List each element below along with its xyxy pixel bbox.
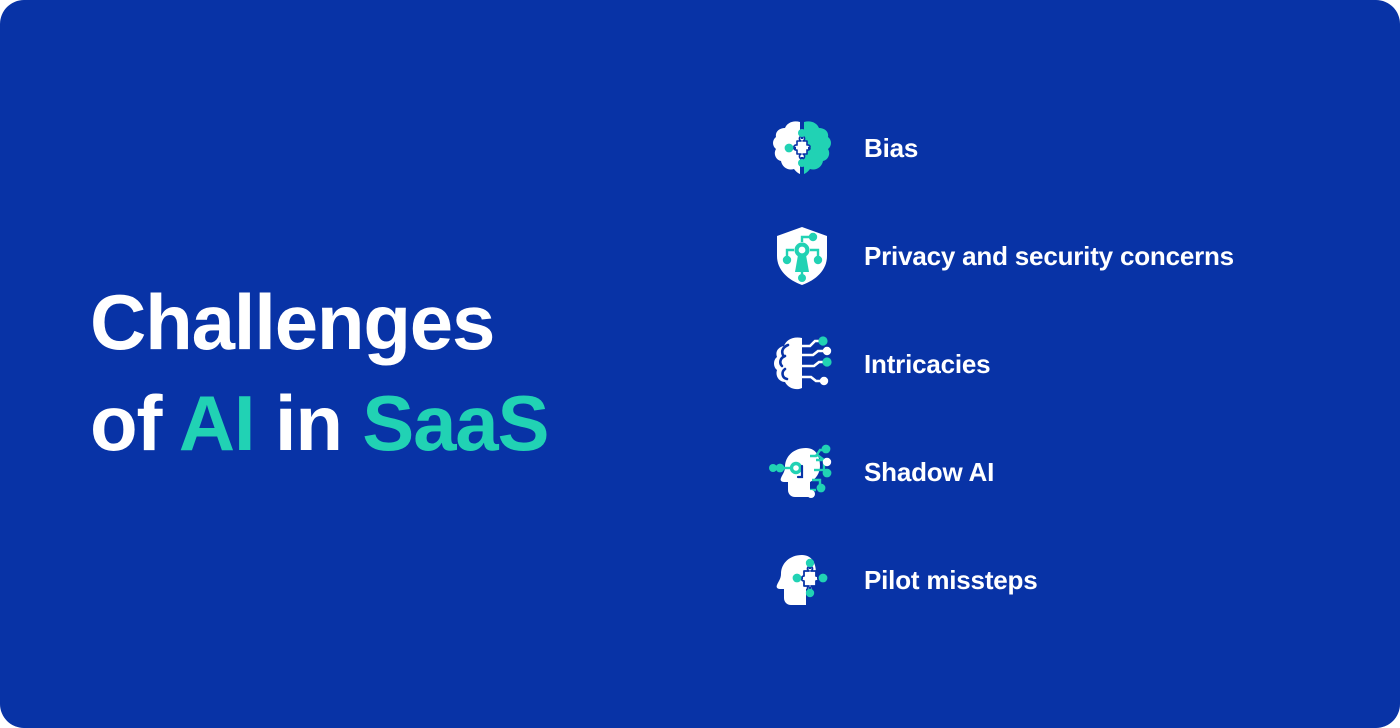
title-word-saas: SaaS <box>362 379 548 467</box>
page-title: Challenges of AI in SaaS <box>90 272 650 474</box>
title-word-ai: AI <box>179 379 255 467</box>
head-network-icon <box>758 428 846 516</box>
title-word-of: of <box>90 379 179 467</box>
list-item: Privacy and security concerns <box>758 212 1358 300</box>
split-brain-puzzle-icon <box>758 104 846 192</box>
challenges-list: Bias <box>758 104 1358 624</box>
list-item-label: Pilot missteps <box>864 565 1037 596</box>
shield-keyhole-circuit-icon <box>758 212 846 300</box>
title-word-in: in <box>254 379 362 467</box>
title-line-2: of AI in SaaS <box>90 373 650 474</box>
brain-circuit-icon <box>758 320 846 408</box>
title-line-1: Challenges <box>90 272 650 373</box>
list-item: Bias <box>758 104 1358 192</box>
list-item: Intricacies <box>758 320 1358 408</box>
list-item: Pilot missteps <box>758 536 1358 624</box>
list-item-label: Shadow AI <box>864 457 994 488</box>
infographic-card: Challenges of AI in SaaS <box>0 0 1400 728</box>
list-item-label: Bias <box>864 133 918 164</box>
list-item: Shadow AI <box>758 428 1358 516</box>
list-item-label: Intricacies <box>864 349 990 380</box>
list-item-label: Privacy and security concerns <box>864 241 1234 272</box>
head-puzzle-icon <box>758 536 846 624</box>
title-word-challenges: Challenges <box>90 278 494 366</box>
